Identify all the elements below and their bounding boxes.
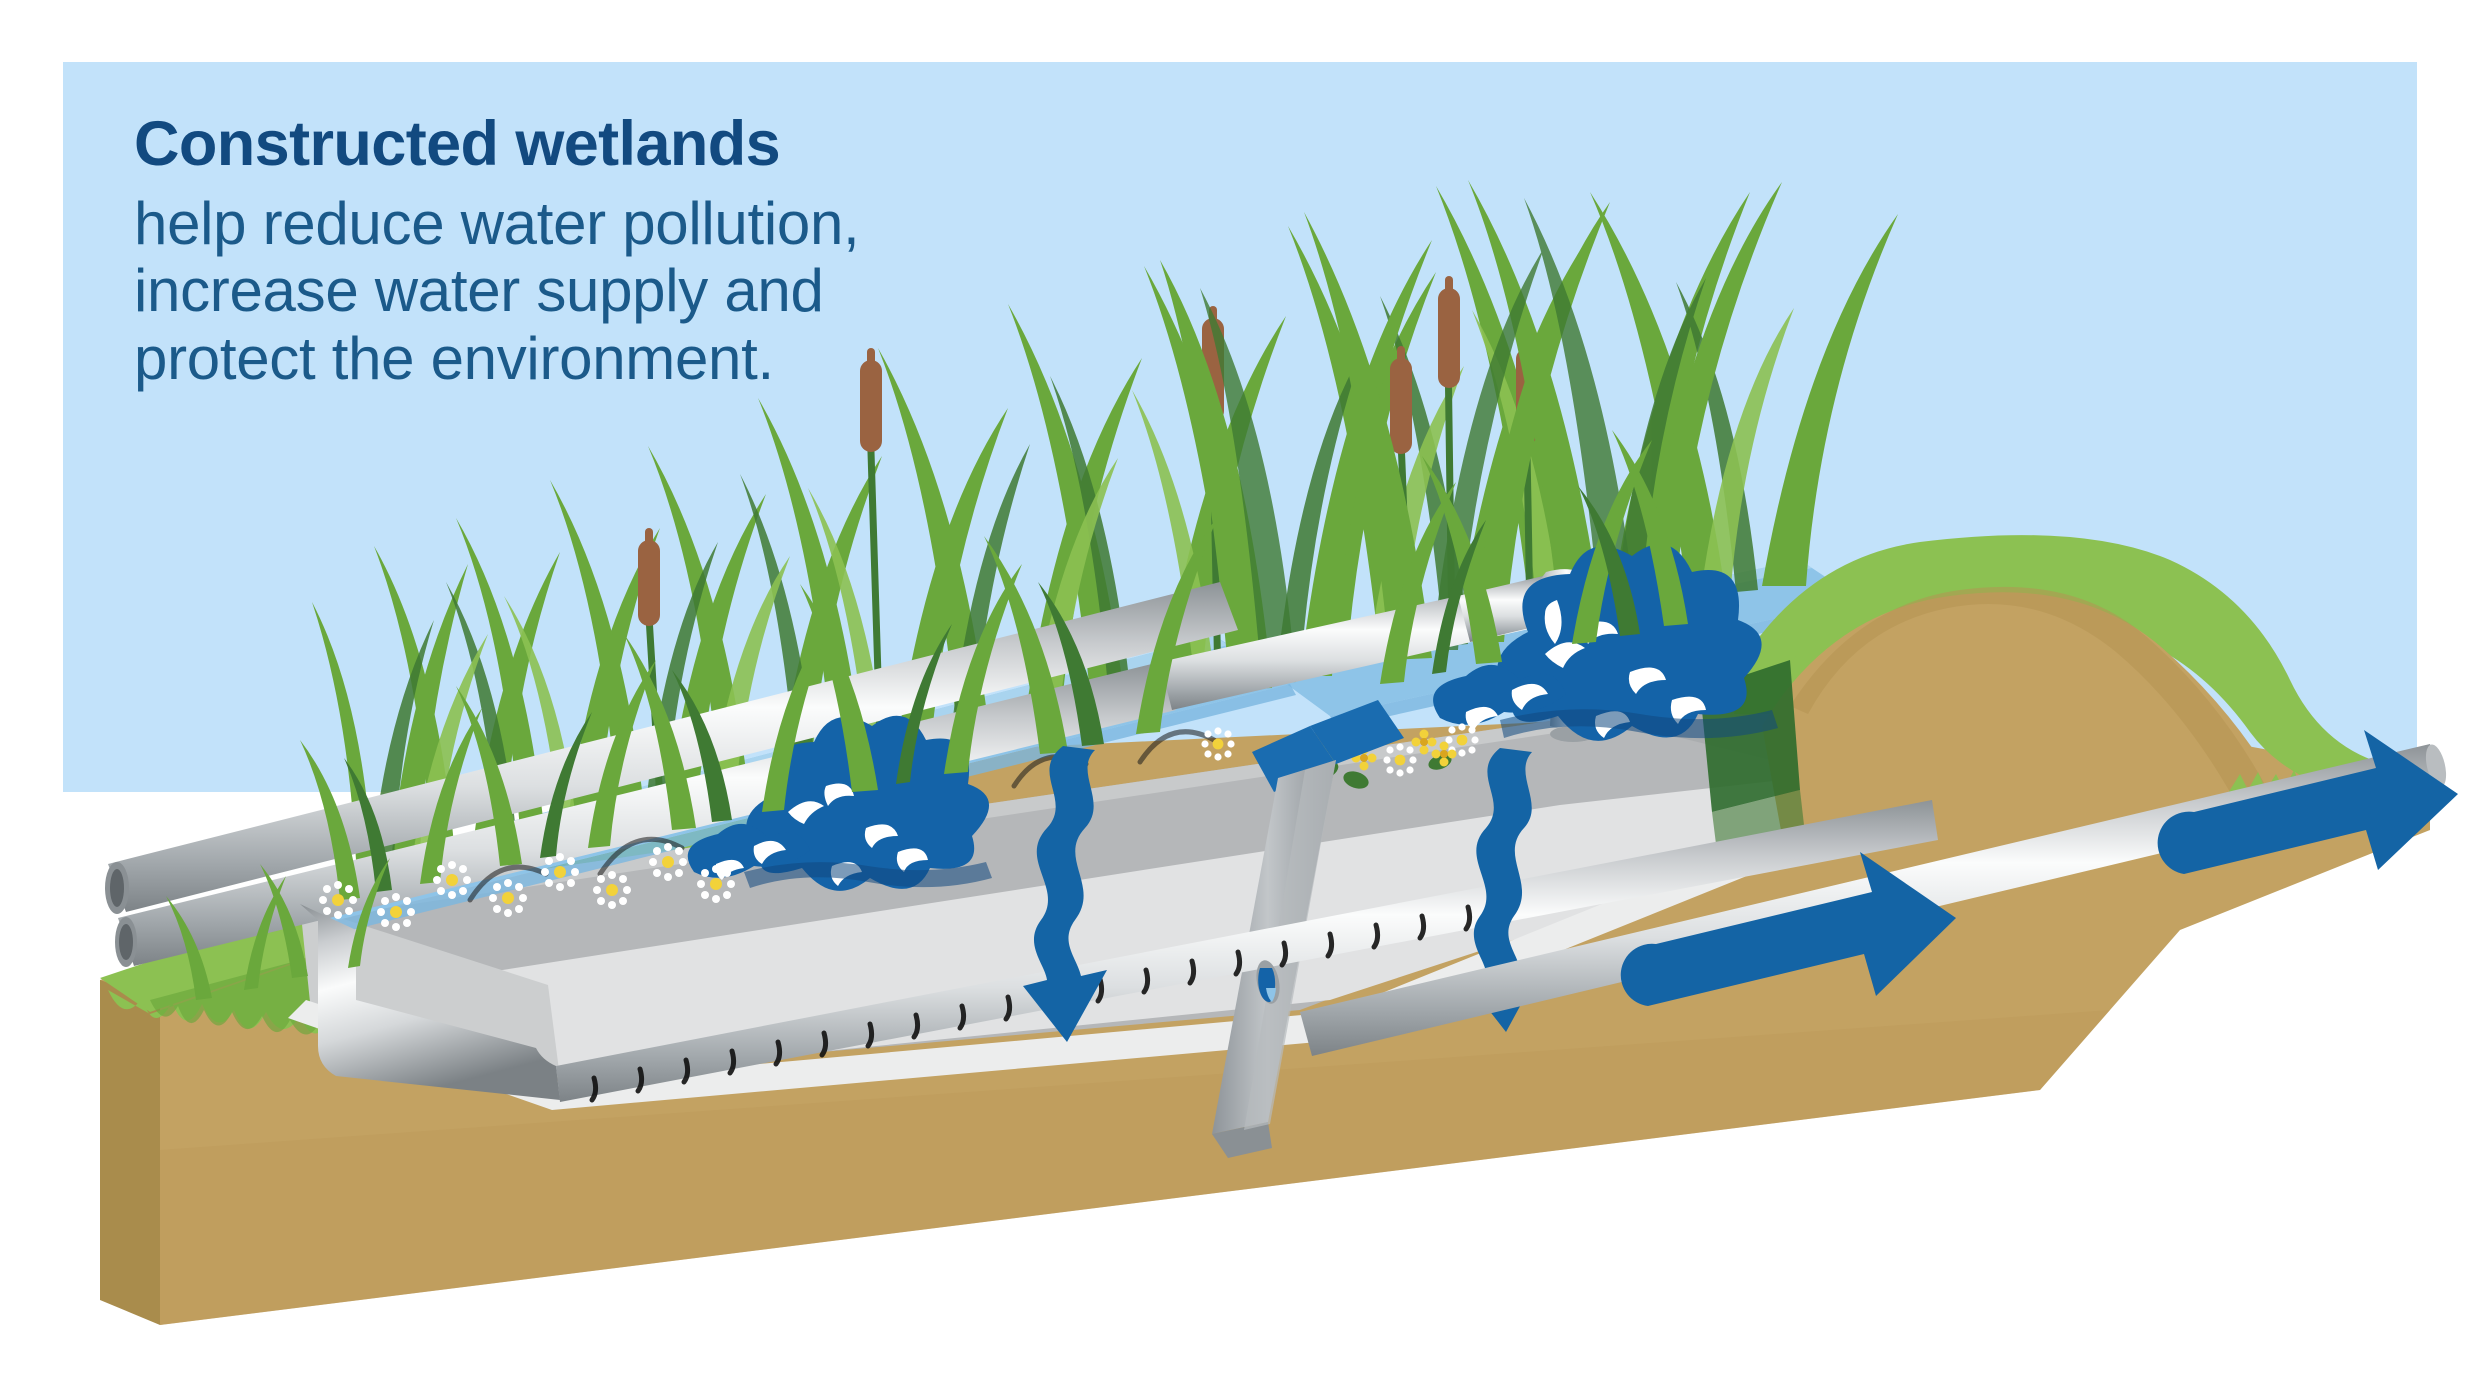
subtitle-line-3: protect the environment. — [134, 325, 1234, 392]
infographic-canvas: Constructed wetlands help reduce water p… — [0, 0, 2480, 1391]
page-title: Constructed wetlands — [134, 112, 1234, 176]
info-text-block: Constructed wetlands help reduce water p… — [134, 112, 1234, 392]
subtitle-line-1: help reduce water pollution, — [134, 190, 1234, 257]
subtitle-line-2: increase water supply and — [134, 257, 1234, 324]
